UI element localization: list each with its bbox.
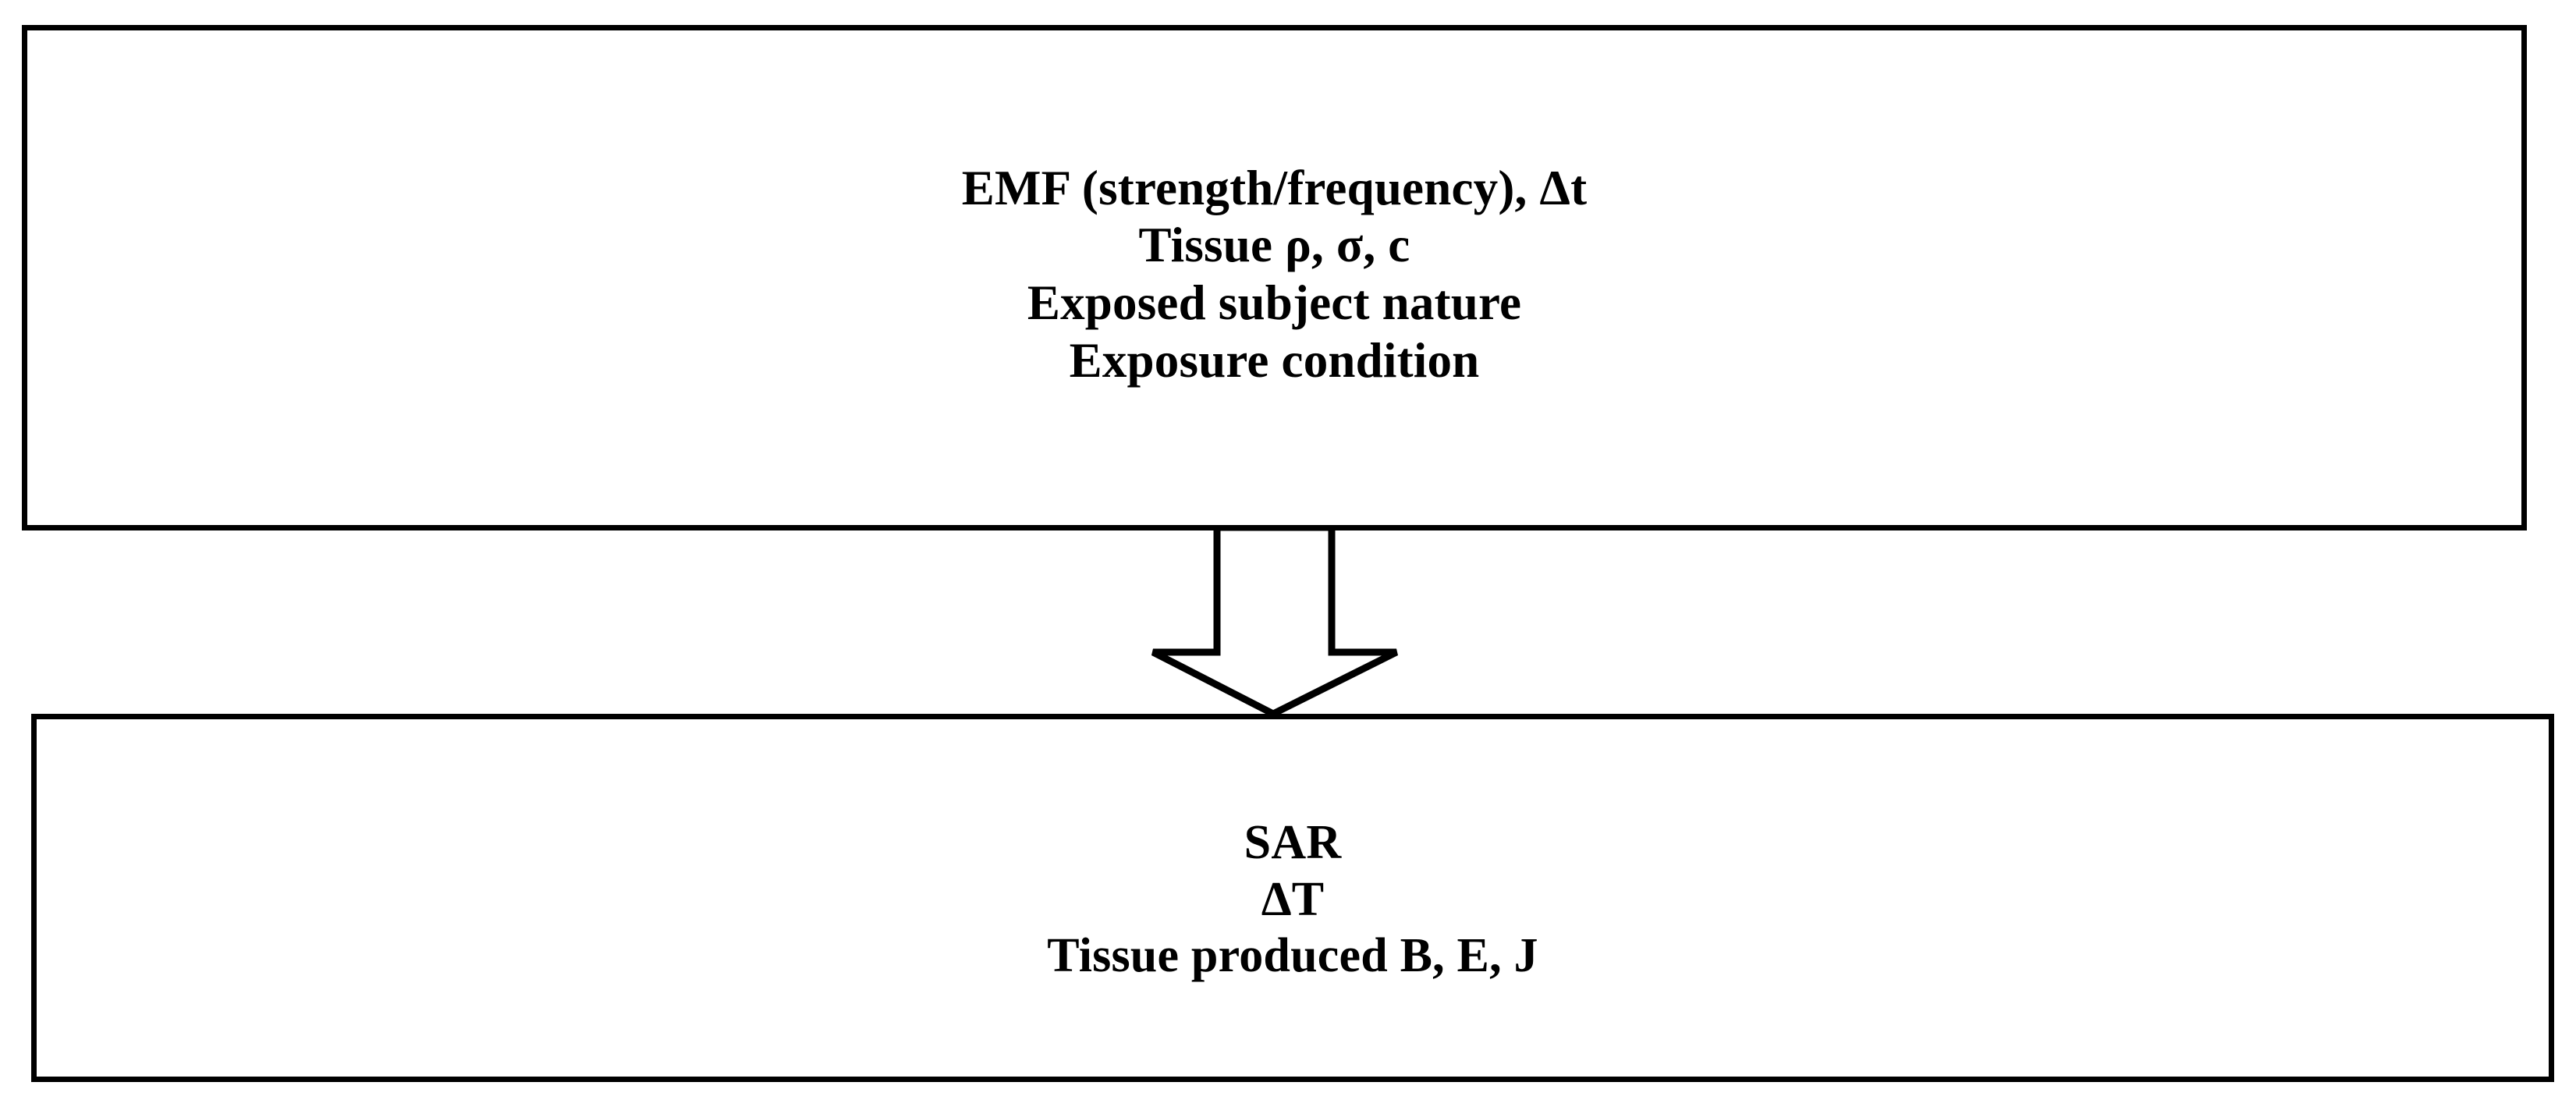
output-quantities-text-block: SAR ΔT Tissue produced B, E, J	[37, 814, 2549, 985]
down-arrow	[1147, 527, 1404, 717]
down-arrow-icon	[1147, 527, 1404, 717]
output-line-sar: SAR	[37, 814, 2549, 871]
diagram-canvas: EMF (strength/frequency), Δt Tissue ρ, σ…	[0, 0, 2576, 1107]
input-line-exposed-subject-nature: Exposed subject nature	[27, 275, 2521, 332]
input-line-emf-strength-frequency-dt: EMF (strength/frequency), Δt	[27, 160, 2521, 218]
output-line-delta-t: ΔT	[37, 871, 2549, 928]
down-arrow-shape	[1153, 527, 1396, 714]
output-quantities-box: SAR ΔT Tissue produced B, E, J	[31, 714, 2554, 1082]
input-line-exposure-condition: Exposure condition	[27, 332, 2521, 390]
input-parameters-box: EMF (strength/frequency), Δt Tissue ρ, σ…	[22, 25, 2527, 530]
output-line-tissue-produced-b-e-j: Tissue produced B, E, J	[37, 928, 2549, 985]
input-parameters-text-block: EMF (strength/frequency), Δt Tissue ρ, σ…	[27, 160, 2521, 390]
input-line-tissue-rho-sigma-c: Tissue ρ, σ, c	[27, 217, 2521, 275]
